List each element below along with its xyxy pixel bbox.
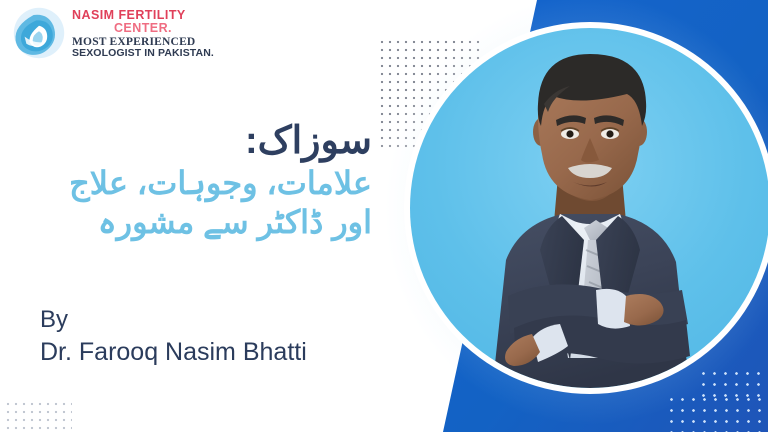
headline-line-3: اور ڈاکٹر سے مشورہ [16,203,372,242]
byline-block: By Dr. Farooq Nasim Bhatti [40,305,307,368]
byline-author-name: Dr. Farooq Nasim Bhatti [40,336,307,368]
headline-line-1: سوزاک: [16,118,372,164]
brand-logo[interactable]: NASIM FERTILITY CENTER. MOST EXPERIENCED… [12,6,214,60]
logo-line-4: SEXOLOGIST IN PAKISTAN. [72,48,214,59]
portrait-light-blue-backdrop [410,28,768,388]
logo-line-3: MOST EXPERIENCED [72,36,214,48]
headline-block: سوزاک: علامات، وجوہات، علاج اور ڈاکٹر سے… [16,118,372,242]
doctor-portrait-circle [404,22,768,394]
mother-and-child-circle-logo-icon [12,6,66,60]
dot-grid-bottom-right-lower-icon [666,394,766,432]
headline-line-2: علامات، وجوہات، علاج [16,164,372,203]
brand-logo-text: NASIM FERTILITY CENTER. MOST EXPERIENCED… [72,7,214,58]
doctor-portrait-image [410,28,768,388]
dot-grid-bottom-left-icon [4,400,72,430]
byline-prefix: By [40,305,307,336]
logo-line-2: CENTER. [72,22,214,35]
video-thumbnail-canvas: NASIM FERTILITY CENTER. MOST EXPERIENCED… [0,0,768,432]
